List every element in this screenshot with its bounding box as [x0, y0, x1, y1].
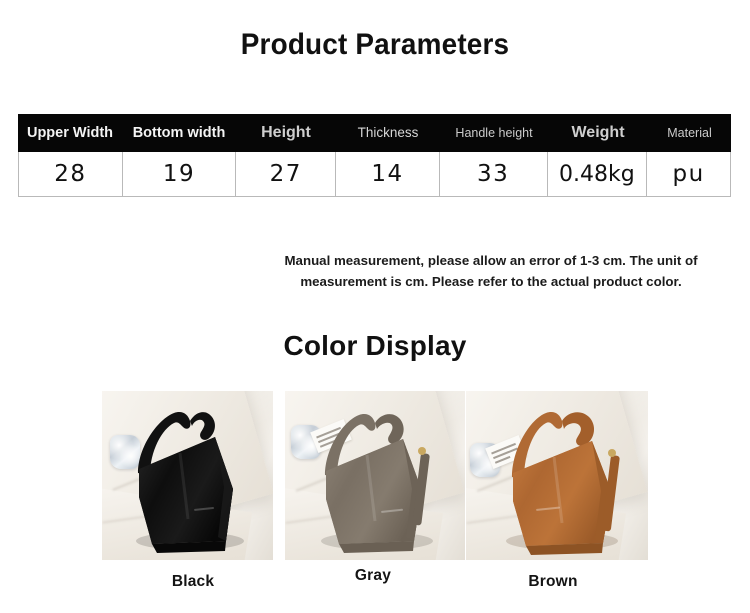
measurement-note: Manual measurement, please allow an erro…: [250, 250, 732, 292]
spec-value-weight: 0.48kg: [548, 152, 648, 196]
spec-value-height: 27: [236, 152, 336, 196]
product-photo-black[interactable]: [102, 391, 273, 560]
color-label-brown: Brown: [478, 573, 628, 591]
spec-header-weight: Weight: [548, 125, 648, 141]
color-display-title: Color Display: [0, 330, 750, 362]
spec-header-thickness: Thickness: [336, 126, 440, 140]
color-gallery: [102, 391, 648, 560]
spec-value-handle-height: 33: [440, 152, 548, 196]
spec-table-value-row: 28 19 27 14 33 0.48kg pu: [18, 152, 731, 197]
measurement-note-line-1: Manual measurement, please allow an erro…: [250, 250, 732, 271]
color-label-black: Black: [118, 573, 268, 591]
color-label-gray: Gray: [298, 567, 448, 585]
spec-table: Upper Width Bottom width Height Thicknes…: [18, 114, 731, 197]
spec-header-bottom-width: Bottom width: [122, 126, 236, 141]
product-photo-gray[interactable]: [285, 391, 465, 560]
measurement-note-line-2: measurement is cm. Please refer to the a…: [250, 271, 732, 292]
spec-value-material: pu: [647, 152, 730, 196]
spec-header-height: Height: [236, 125, 336, 141]
spec-value-thickness: 14: [336, 152, 440, 196]
spec-value-upper-width: 28: [19, 152, 123, 196]
gray-bag-illustration: [285, 391, 465, 560]
spec-header-handle-height: Handle height: [440, 127, 548, 140]
black-bag-illustration: [102, 391, 273, 560]
spec-table-header-row: Upper Width Bottom width Height Thicknes…: [18, 114, 731, 152]
spec-header-material: Material: [648, 127, 731, 140]
brown-bag-illustration: [466, 391, 648, 560]
page-title: Product Parameters: [26, 28, 724, 62]
spec-value-bottom-width: 19: [123, 152, 237, 196]
spec-header-upper-width: Upper Width: [18, 126, 122, 141]
product-photo-brown[interactable]: [466, 391, 648, 560]
